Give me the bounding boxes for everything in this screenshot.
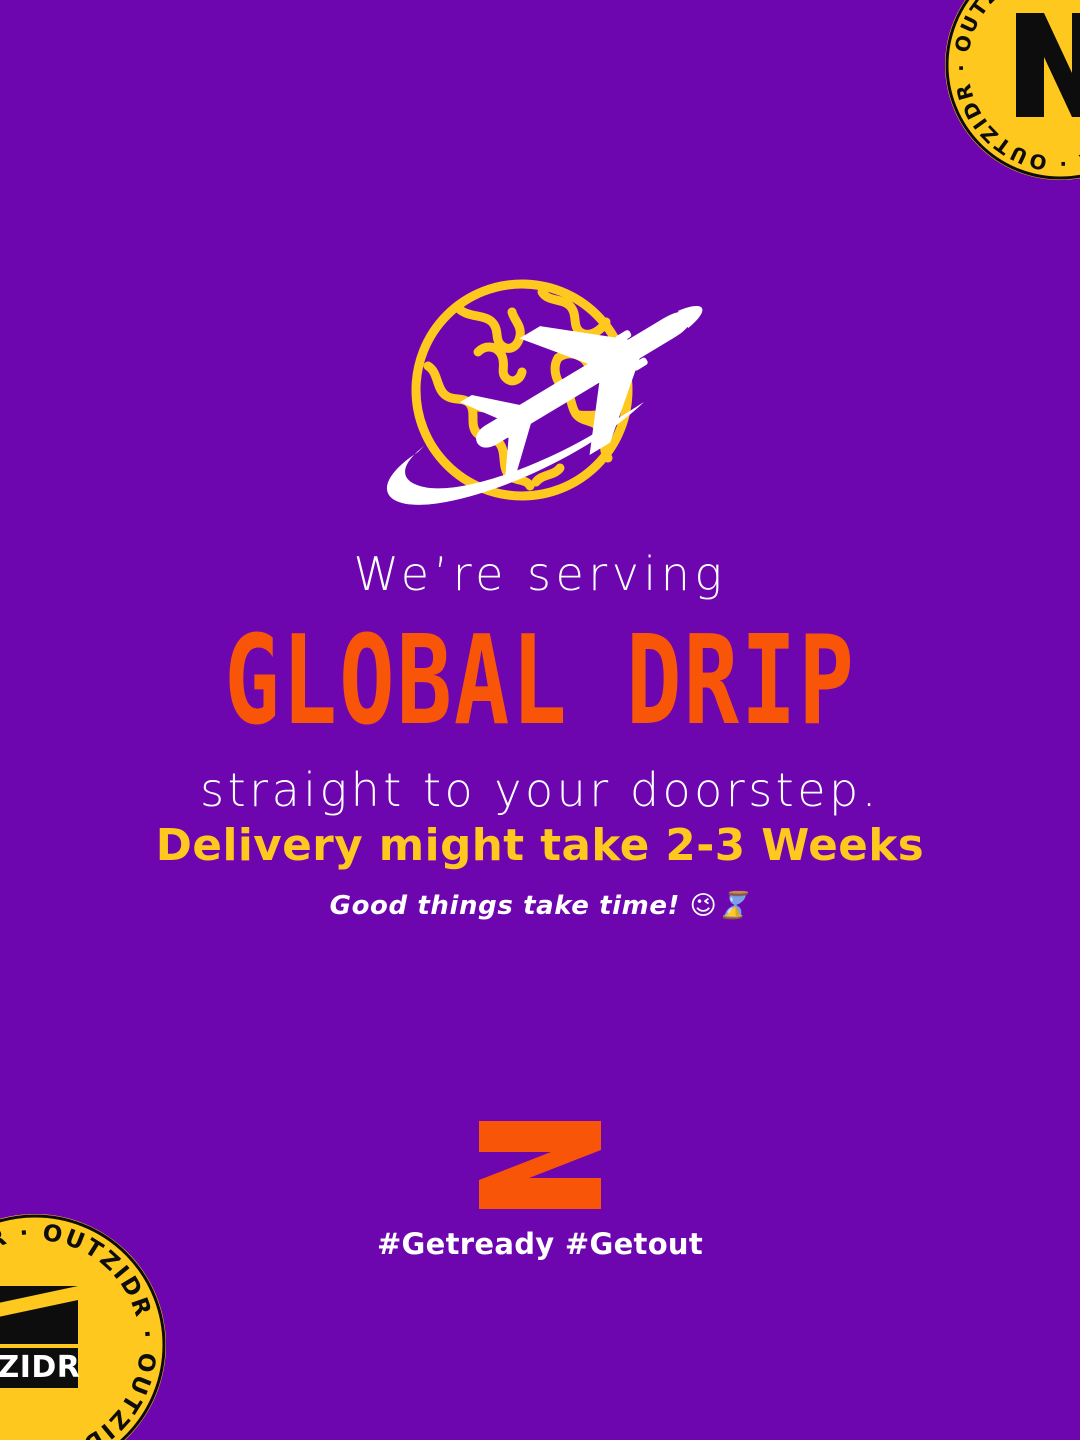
headline-block: We’re serving GLOBAL DRIP straight to yo… bbox=[0, 548, 1080, 817]
headline-line-1: We’re serving bbox=[0, 548, 1080, 601]
delivery-estimate-text: Delivery might take 2-3 Weeks bbox=[5, 820, 1074, 873]
globe-airplane-illustration bbox=[352, 276, 720, 514]
airplane-icon bbox=[442, 276, 720, 501]
badge-wordmark: OUTZIDR bbox=[0, 1350, 80, 1385]
globe-icon bbox=[416, 284, 628, 496]
delivery-block: Delivery might take 2-3 Weeks Good thing… bbox=[0, 820, 1080, 921]
outzidr-badge-bottom-left: OUTZIDR · OUTZIDR · OUTZIDR · OUTZIDR · … bbox=[0, 1214, 166, 1440]
outzidr-z-logo bbox=[477, 1120, 603, 1210]
headline-line-2: GLOBAL DRIP bbox=[22, 609, 1059, 754]
delivery-subtext: Good things take time! 😉⌛ bbox=[0, 891, 1080, 921]
outzidr-badge-top-right: OUTZIDR · OUTZIDR · OUTZIDR · OUTZIDR · bbox=[945, 0, 1080, 180]
badge-inner-mark: OUTZIDR bbox=[0, 1286, 80, 1388]
headline-line-3: straight to your doorstep. bbox=[0, 764, 1080, 817]
poster-canvas: OUTZIDR · OUTZIDR · OUTZIDR · OUTZIDR · bbox=[0, 0, 1080, 1440]
